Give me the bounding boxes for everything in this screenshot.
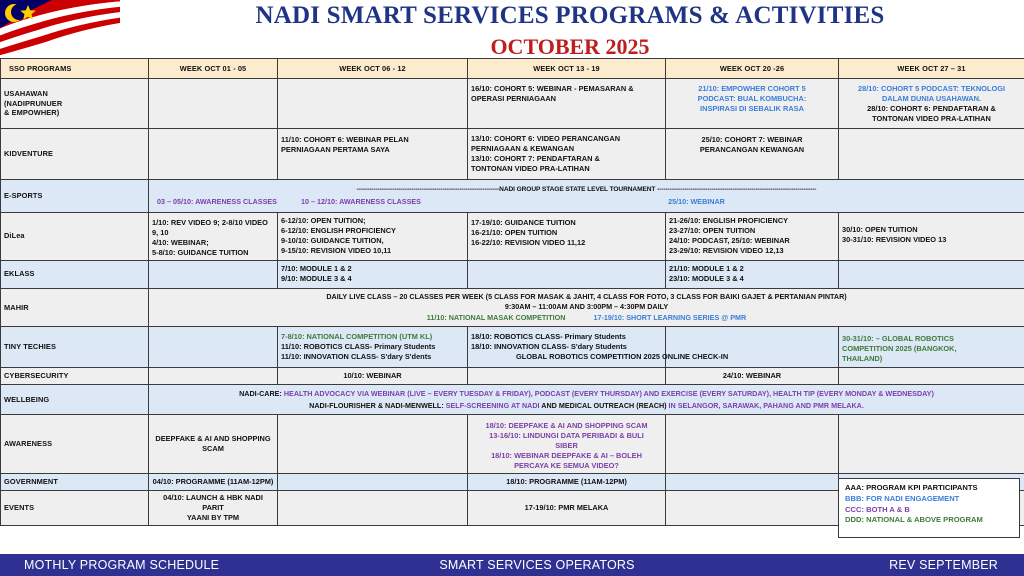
text-line: 23/10: MODULE 3 & 4 [669,274,835,284]
text-segment: IN SELANGOR, SARAWAK, PAHANG AND PMR MEL… [667,401,864,410]
text-line: THAILAND) [842,354,1021,364]
page-title: NADI SMART SERVICES PROGRAMS & ACTIVITIE… [130,2,1010,30]
table-row-wellbeing: WELLBEING NADI-CARE: HEALTH ADVOCACY VIA… [1,385,1024,415]
text-line: 16-21/10: OPEN TUITION [471,228,662,238]
table-row-esports: E-SPORTS -------------------------------… [1,180,1024,213]
row-label-mahir: MAHIR [1,288,149,326]
legend-item-aaa: AAA: PROGRAM KPI PARTICIPANTS [845,483,1013,494]
cell-awareness-w1: DEEPFAKE & AI AND SHOPPING SCAM [149,415,278,474]
text-line: TONTONAN VIDEO PRA-LATIHAN [471,164,662,174]
row-label-awareness: AWARENESS [1,415,149,474]
text-segment: MEDICAL OUTREACH (REACH) [559,401,667,410]
text-line: 21-26/10: ENGLISH PROFICIENCY [669,216,835,226]
cell-mahir-span: DAILY LIVE CLASS – 20 CLASSES PER WEEK (… [149,288,1024,326]
column-header-week-1: WEEK OCT 01 - 05 [149,59,278,79]
text-line: 30/10: OPEN TUITION [842,225,1021,235]
cell-government-w1: 04/10: PROGRAMME (11AM-12PM) [149,474,278,491]
text-line: 17-19/10: GUIDANCE TUITION [471,218,662,228]
text-line: PERCAYA KE SEMUA VIDEO? [471,461,662,471]
cell-usahawan-w5: 28/10: COHORT 5 PODCAST: TEKNOLOGI DALAM… [839,79,1024,129]
table-row-kidventure: KIDVENTURE 11/10: COHORT 6: WEBINAR PELA… [1,129,1024,180]
cell-tinytechies-w2: 7-8/10: NATIONAL COMPETITION (UTM KL) 11… [278,327,468,368]
text-line: COMPETITION 2025 (BANGKOK, [842,344,1021,354]
malaysia-flag-icon [0,0,120,58]
cell-kidventure-w5 [839,129,1024,180]
text-line: 1/10: REV VIDEO 9; 2-8/10 VIDEO 9, 10 [152,218,274,238]
cell-government-w3: 18/10: PROGRAMME (11AM-12PM) [468,474,666,491]
text-line: GLOBAL ROBOTICS COMPETITION 2025 ONLINE … [516,352,707,362]
cell-eklass-w2: 7/10: MODULE 1 & 2 9/10: MODULE 3 & 4 [278,260,468,288]
column-header-week-5: WEEK OCT 27 – 31 [839,59,1024,79]
cell-events-w4 [666,491,839,526]
text-line: 30-31/10: REVISION VIDEO 13 [842,235,1021,245]
row-label-line-2: (NADIPRUNUER [4,99,145,109]
row-label-esports: E-SPORTS [1,180,149,213]
row-label-cybersecurity: CYBERSECURITY [1,368,149,385]
cell-dilea-w2: 6-12/10: OPEN TUITION; 6-12/10: ENGLISH … [278,213,468,261]
cell-events-w3: 17-19/10: PMR MELAKA [468,491,666,526]
cell-cyber-w5 [839,368,1024,385]
text-line: 30-31/10: – GLOBAL ROBOTICS [842,334,1021,344]
cell-kidventure-w3: 13/10: COHORT 6: VIDEO PERANCANGAN PERNI… [468,129,666,180]
text-line: 16-22/10: REVISION VIDEO 11,12 [471,238,662,248]
text-line: 28/10: COHORT 5 PODCAST: TEKNOLOGI [842,84,1021,94]
column-header-sso-programs: SSO PROGRAMS [1,59,149,79]
footer-right-text: REV SEPTEMBER [794,558,1024,572]
row-label-dilea: DiLea [1,213,149,261]
text-segment: NADI-FLOURISHER & NADI-MENWELL: [309,401,444,410]
mahir-line-2: 9:30AM – 11:00AM AND 3:00PM – 4:30PM DAI… [151,302,1022,312]
esports-item-2: 10 – 12/10: AWARENESS CLASSES [301,197,501,207]
cell-tinytechies-w3: 18/10: ROBOTICS CLASS- Primary Students … [468,327,666,368]
legend-item-ccc: CCC: BOTH A & B [845,505,1013,516]
cell-cyber-w1 [149,368,278,385]
row-label-tiny-techies: TINY TECHIES [1,327,149,368]
cell-esports-span: ----------------------------------------… [149,180,1024,213]
table-row-mahir: MAHIR DAILY LIVE CLASS – 20 CLASSES PER … [1,288,1024,326]
cell-dilea-w1: 1/10: REV VIDEO 9; 2-8/10 VIDEO 9, 10 4/… [149,213,278,261]
text-line: PERANCANGAN KEWANGAN [669,145,835,155]
table-row-eklass: EKLASS 7/10: MODULE 1 & 2 9/10: MODULE 3… [1,260,1024,288]
row-label-line-1: USAHAWAN [4,89,145,99]
cell-dilea-w4: 21-26/10: ENGLISH PROFICIENCY 23-27/10: … [666,213,839,261]
mahir-items: 11/10: NATIONAL MASAK COMPETITION 17-19/… [151,313,1022,323]
text-segment: NADI-CARE: [239,389,282,398]
column-header-week-4: WEEK OCT 20 -26 [666,59,839,79]
mahir-line-1: DAILY LIVE CLASS – 20 CLASSES PER WEEK (… [151,292,1022,302]
cell-government-w4 [666,474,839,491]
text-line: 18/10: WEBINAR DEEPFAKE & AI – BOLEH [471,451,662,461]
text-line: 9-15/10: REVISION VIDEO 10,11 [281,246,464,256]
column-header-week-2: WEEK OCT 06 - 12 [278,59,468,79]
column-header-week-3: WEEK OCT 13 - 19 [468,59,666,79]
text-line: 7/10: MODULE 1 & 2 [281,264,464,274]
text-line: 16/10: COHORT 5: WEBINAR - PEMASARAN & [471,84,662,94]
text-line: DALAM DUNIA USAHAWAN. [842,94,1021,104]
page-subtitle: OCTOBER 2025 [130,34,1010,60]
text-segment: HEALTH ADVOCACY VIA WEBINAR (LIVE – EVER… [282,389,934,398]
cell-awareness-w2 [278,415,468,474]
text-line: PERNIAGAAN & KEWANGAN [471,144,662,154]
text-line: 7-8/10: NATIONAL COMPETITION (UTM KL) [281,332,464,342]
row-label-government: GOVERNMENT [1,474,149,491]
text-segment: SELF-SCREENING AT NADI [444,401,542,410]
text-line: 13/10: COHORT 7: PENDAFTARAN & [471,154,662,164]
row-label-usahawan: USAHAWAN (NADIPRUNUER & EMPOWHER) [1,79,149,129]
text-line: OPERASI PERNIAGAAN [471,94,662,104]
text-line: 23-27/10: OPEN TUITION [669,226,835,236]
cell-cyber-w2: 10/10: WEBINAR [278,368,468,385]
legend-box: AAA: PROGRAM KPI PARTICIPANTS BBB: FOR N… [838,478,1020,538]
text-line: YAANI BY TPM [152,513,274,523]
text-line: 4/10: WEBINAR; [152,238,274,248]
text-line: 13/10: COHORT 6: VIDEO PERANCANGAN [471,134,662,144]
footer-bar: MOTHLY PROGRAM SCHEDULE SMART SERVICES O… [0,554,1024,576]
text-line: 18/10: ROBOTICS CLASS- Primary Students [471,332,662,342]
text-line: 23-29/10: REVISION VIDEO 12,13 [669,246,835,256]
cell-dilea-w5: 30/10: OPEN TUITION 30-31/10: REVISION V… [839,213,1024,261]
schedule-table: SSO PROGRAMS WEEK OCT 01 - 05 WEEK OCT 0… [0,58,1024,526]
wellbeing-line-2: NADI-FLOURISHER & NADI-MENWELL: SELF-SCR… [151,400,1022,412]
cell-cyber-w3 [468,368,666,385]
text-line: 11/10: ROBOTICS CLASS- Primary Students [281,342,464,352]
cell-usahawan-w3: 16/10: COHORT 5: WEBINAR - PEMASARAN & O… [468,79,666,129]
cell-dilea-w3: 17-19/10: GUIDANCE TUITION 16-21/10: OPE… [468,213,666,261]
row-label-line-3: & EMPOWHER) [4,108,145,118]
table-row-cybersecurity: CYBERSECURITY 10/10: WEBINAR 24/10: WEBI… [1,368,1024,385]
cell-government-w2 [278,474,468,491]
table-row-usahawan: USAHAWAN (NADIPRUNUER & EMPOWHER) 16/10:… [1,79,1024,129]
text-line: 5-8/10: GUIDANCE TUITION [152,248,274,258]
table-row-tiny-techies: TINY TECHIES 7-8/10: NATIONAL COMPETITIO… [1,327,1024,368]
row-label-kidventure: KIDVENTURE [1,129,149,180]
table-header-row: SSO PROGRAMS WEEK OCT 01 - 05 WEEK OCT 0… [1,59,1024,79]
cell-awareness-w3: 18/10: DEEPFAKE & AI AND SHOPPING SCAM 1… [468,415,666,474]
cell-cyber-w4: 24/10: WEBINAR [666,368,839,385]
cell-eklass-w5 [839,260,1024,288]
text-line: TONTONAN VIDEO PRA-LATIHAN [842,114,1021,124]
text-line: 13-16/10: LINDUNGI DATA PERIBADI & BULI [471,431,662,441]
text-line: 18/10: INNOVATION CLASS- S'dary Students [471,342,662,352]
text-line: 18/10: DEEPFAKE & AI AND SHOPPING SCAM [471,421,662,431]
esports-item-1: 03 – 05/10: AWARENESS CLASSES [151,197,301,207]
row-label-wellbeing: WELLBEING [1,385,149,415]
text-line: INSPIRASI DI SEBALIK RASA [669,104,835,114]
esports-banner: ----------------------------------------… [151,186,1022,195]
mahir-item-blue: 17-19/10: SHORT LEARNING SERIES @ PMR [593,313,746,323]
mahir-item-green: 11/10: NATIONAL MASAK COMPETITION [427,313,566,323]
cell-usahawan-w2 [278,79,468,129]
cell-kidventure-w1 [149,129,278,180]
table-row-awareness: AWARENESS DEEPFAKE & AI AND SHOPPING SCA… [1,415,1024,474]
text-line: 21/10: MODULE 1 & 2 [669,264,835,274]
cell-kidventure-w4: 25/10: COHORT 7: WEBINAR PERANCANGAN KEW… [666,129,839,180]
text-line: 9-10/10: GUIDANCE TUITION, [281,236,464,246]
wellbeing-line-1: NADI-CARE: HEALTH ADVOCACY VIA WEBINAR (… [151,388,1022,400]
text-segment: AND [541,401,559,410]
cell-usahawan-w4: 21/10: EMPOWHER COHORT 5 PODCAST: BUAL K… [666,79,839,129]
table-row-dilea: DiLea 1/10: REV VIDEO 9; 2-8/10 VIDEO 9,… [1,213,1024,261]
cell-eklass-w1 [149,260,278,288]
text-line: PERNIAGAAN PERTAMA SAYA [281,145,464,155]
legend-item-ddd: DDD: NATIONAL & ABOVE PROGRAM [845,515,1013,526]
text-line: 9/10: MODULE 3 & 4 [281,274,464,284]
title-block: NADI SMART SERVICES PROGRAMS & ACTIVITIE… [130,2,1010,60]
text-line: 6-12/10: ENGLISH PROFICIENCY [281,226,464,236]
cell-events-w2 [278,491,468,526]
cell-kidventure-w2: 11/10: COHORT 6: WEBINAR PELAN PERNIAGAA… [278,129,468,180]
cell-tinytechies-w5: 30-31/10: – GLOBAL ROBOTICS COMPETITION … [839,327,1024,368]
text-line: 04/10: LAUNCH & HBK NADI PARIT [152,493,274,513]
text-line: 24/10: PODCAST, 25/10: WEBINAR [669,236,835,246]
text-line: 21/10: EMPOWHER COHORT 5 [669,84,835,94]
schedule-page: NADI SMART SERVICES PROGRAMS & ACTIVITIE… [0,0,1024,576]
cell-awareness-w4 [666,415,839,474]
footer-left-text: MOTHLY PROGRAM SCHEDULE [0,558,330,572]
row-label-events: EVENTS [1,491,149,526]
footer-center-text: SMART SERVICES OPERATORS [330,558,794,572]
cell-events-w1: 04/10: LAUNCH & HBK NADI PARIT YAANI BY … [149,491,278,526]
esports-item-3: 25/10: WEBINAR [501,197,1022,207]
row-label-eklass: EKLASS [1,260,149,288]
cell-eklass-w4: 21/10: MODULE 1 & 2 23/10: MODULE 3 & 4 [666,260,839,288]
text-line: 25/10: COHORT 7: WEBINAR [669,135,835,145]
text-line: SIBER [471,441,662,451]
legend-item-bbb: BBB: FOR NADI ENGAGEMENT [845,494,1013,505]
cell-usahawan-w1 [149,79,278,129]
text-line: 11/10: INNOVATION CLASS- S'dary S'dents [281,352,464,362]
text-line: PODCAST: BUAL KOMBUCHA: [669,94,835,104]
text-line: 11/10: COHORT 6: WEBINAR PELAN [281,135,464,145]
text-line: 6-12/10: OPEN TUITION; [281,216,464,226]
esports-items: 03 – 05/10: AWARENESS CLASSES 10 – 12/10… [151,197,1022,207]
cell-tinytechies-w1 [149,327,278,368]
cell-eklass-w3 [468,260,666,288]
text-line: 28/10: COHORT 6: PENDAFTARAN & [842,104,1021,114]
cell-awareness-w5 [839,415,1024,474]
cell-wellbeing-span: NADI-CARE: HEALTH ADVOCACY VIA WEBINAR (… [149,385,1024,415]
